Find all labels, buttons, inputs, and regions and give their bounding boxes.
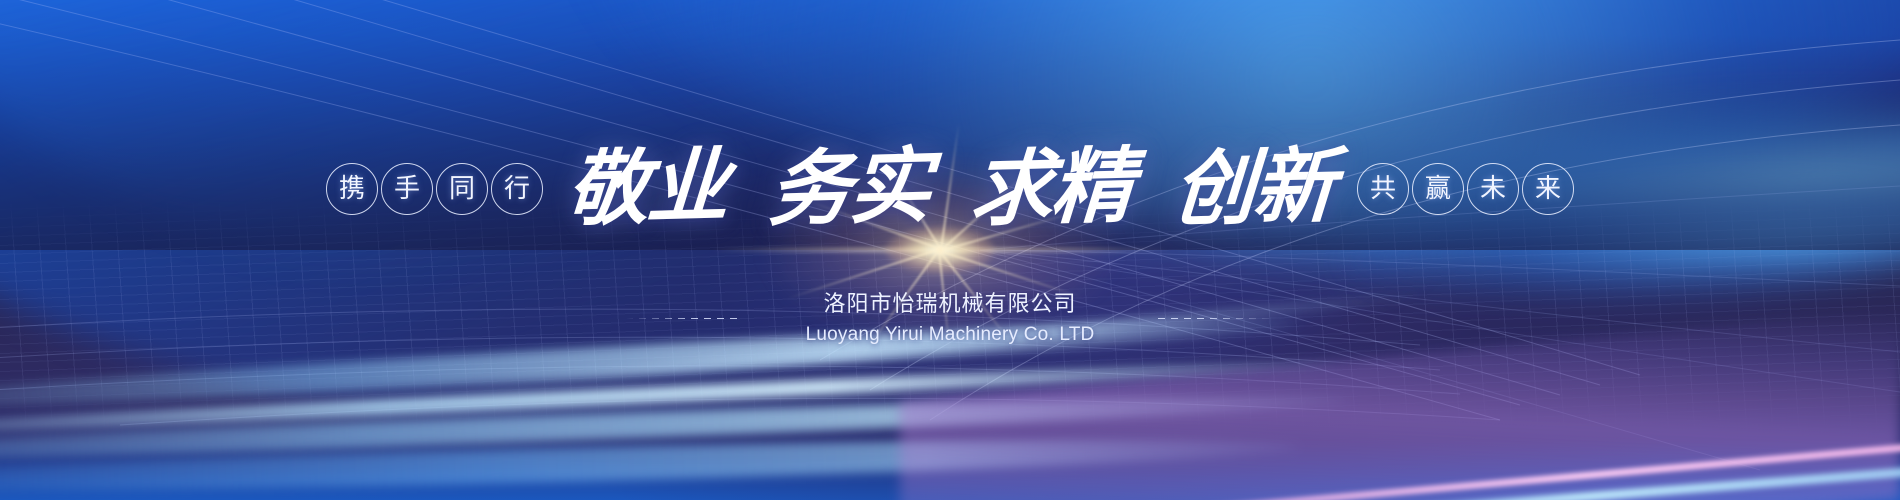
circle-char-ying: 赢 — [1412, 163, 1464, 215]
circle-char-wei: 未 — [1467, 163, 1519, 215]
calligraphy-slogan: 敬业 务实 求精 创新 — [561, 150, 1339, 228]
calligraphy-word-wushi: 务实 — [760, 148, 937, 230]
company-name-cn: 洛阳市怡瑞机械有限公司 — [823, 288, 1076, 321]
circle-char-xie: 携 — [326, 163, 378, 215]
calligraphy-word-qiujing: 求精 — [962, 148, 1139, 230]
circle-char-tong: 同 — [436, 163, 488, 215]
dashed-rule-right — [1158, 318, 1274, 319]
dashed-rule-left — [626, 318, 742, 319]
slogan-headline: 携 手 同 行 敬业 务实 求精 创新 共 赢 未 来 — [0, 150, 1900, 228]
company-name-box: 洛阳市怡瑞机械有限公司 Luoyang Yirui Machinery Co. … — [806, 288, 1095, 350]
company-identity-block: 洛阳市怡瑞机械有限公司 Luoyang Yirui Machinery Co. … — [0, 288, 1900, 350]
circle-char-gong: 共 — [1357, 163, 1409, 215]
company-name-en: Luoyang Yirui Machinery Co. LTD — [806, 321, 1095, 350]
circle-char-lai: 来 — [1522, 163, 1574, 215]
corporate-banner: 携 手 同 行 敬业 务实 求精 创新 共 赢 未 来 — [0, 0, 1900, 500]
slogan-right-circles: 共 赢 未 来 — [1357, 163, 1574, 215]
calligraphy-word-jingye: 敬业 — [558, 148, 735, 230]
circle-char-xing: 行 — [491, 163, 543, 215]
banner-content: 携 手 同 行 敬业 务实 求精 创新 共 赢 未 来 — [0, 0, 1900, 500]
slogan-left-circles: 携 手 同 行 — [326, 163, 543, 215]
calligraphy-word-chuangxin: 创新 — [1164, 148, 1341, 230]
circle-char-shou: 手 — [381, 163, 433, 215]
